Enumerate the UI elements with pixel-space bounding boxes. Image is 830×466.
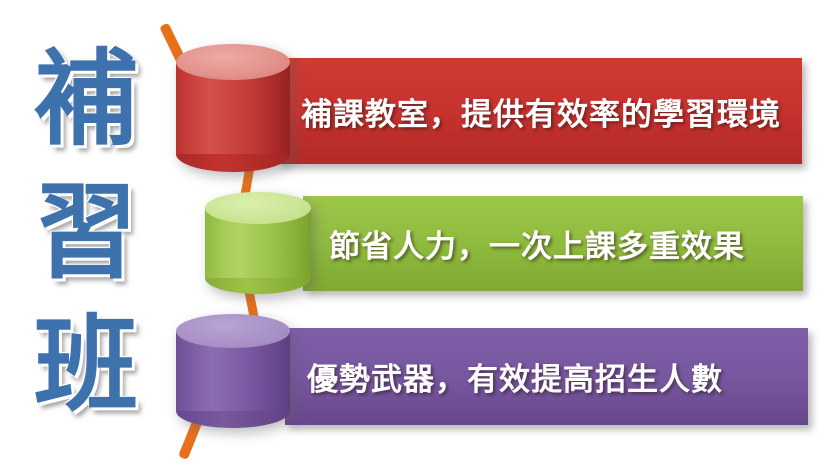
cylinder-purple-cap <box>176 314 290 348</box>
bullet-label-green: 節省人力，一次上課多重效果 <box>329 221 745 266</box>
cylinder-red-cap <box>176 44 290 80</box>
title-char-3: 班 <box>34 312 138 418</box>
bullet-label-red: 補課教室，提供有效率的學習環境 <box>301 89 781 134</box>
title-char-2: 習 <box>34 179 138 285</box>
bullet-bar-red[interactable]: 補課教室，提供有效率的學習環境 <box>277 58 802 164</box>
cylinder-green[interactable] <box>205 192 311 294</box>
bullet-label-purple: 優勢武器，有效提高招生人數 <box>307 354 723 399</box>
slide-canvas: 補 習 班 補課教室，提供有效率的學習環境 節省人力，一次上課多重效果 優勢武器… <box>0 0 830 466</box>
title-char-1: 補 <box>34 46 138 152</box>
vertical-title: 補 習 班 <box>28 46 144 418</box>
cylinder-green-cap <box>205 192 311 224</box>
cylinder-red[interactable] <box>176 44 290 172</box>
cylinder-purple[interactable] <box>176 314 290 428</box>
bullet-bar-green[interactable]: 節省人力，一次上課多重效果 <box>303 196 803 291</box>
bullet-bar-purple[interactable]: 優勢武器，有效提高招生人數 <box>285 328 808 425</box>
